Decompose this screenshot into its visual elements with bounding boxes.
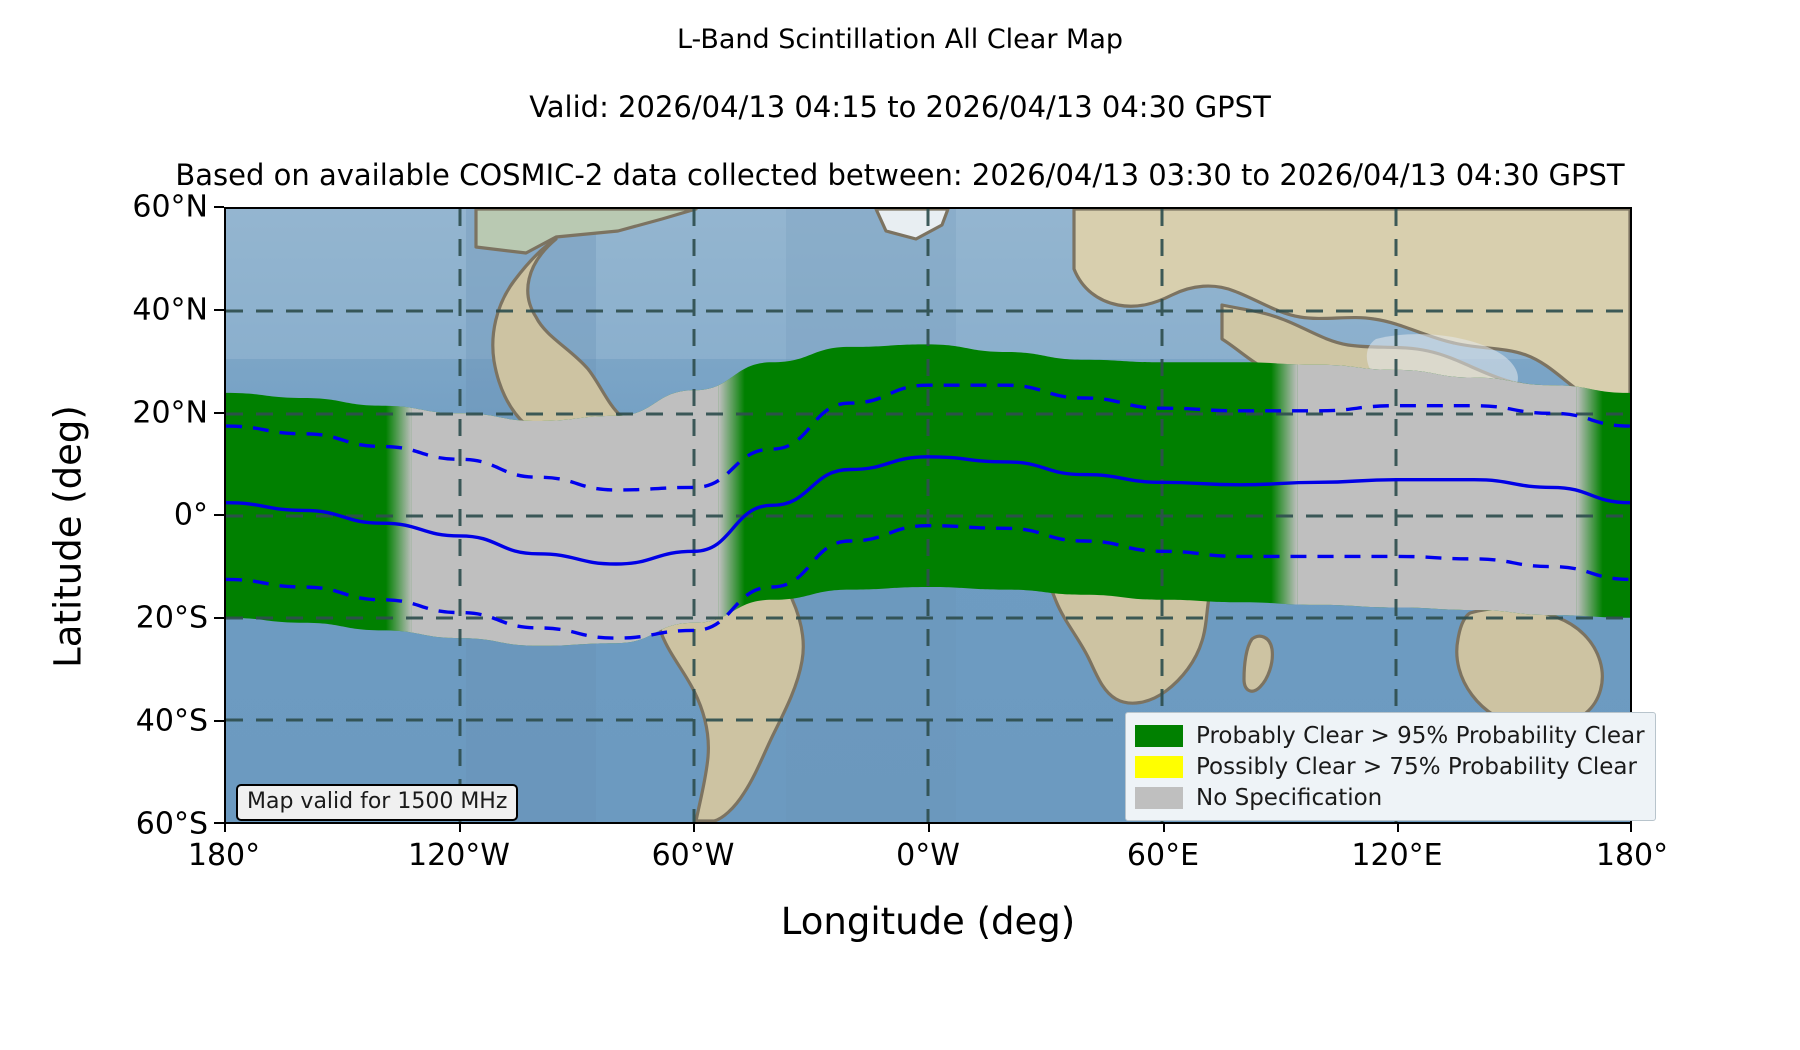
- ytick-label-60s: 60°S: [136, 807, 208, 842]
- legend-swatch-yellow: [1135, 756, 1183, 778]
- y-axis-title: Latitude (deg): [47, 227, 90, 847]
- xtick-label-120e: 120°E: [1351, 838, 1442, 873]
- ytick-label-40s: 40°S: [136, 704, 208, 739]
- ytick-mark: [214, 309, 224, 311]
- ytick-label-60n: 60°N: [132, 190, 208, 225]
- ytick-mark: [214, 822, 224, 824]
- ytick-mark: [214, 617, 224, 619]
- legend-item-no-specification: No Specification: [1135, 782, 1645, 813]
- legend-item-probably-clear: Probably Clear > 95% Probability Clear: [1135, 720, 1645, 751]
- scintillation-map-figure: L-Band Scintillation All Clear Map Valid…: [0, 0, 1800, 1050]
- legend-item-possibly-clear: Possibly Clear > 75% Probability Clear: [1135, 751, 1645, 782]
- xtick-label-180e: 180°: [1596, 838, 1668, 873]
- page-title: L-Band Scintillation All Clear Map: [0, 24, 1800, 55]
- ytick-label-20n: 20°N: [132, 396, 208, 431]
- xtick-label-180w: 180°: [188, 838, 260, 873]
- legend-swatch-gray: [1135, 787, 1183, 809]
- legend-label-probably-clear: Probably Clear > 95% Probability Clear: [1196, 723, 1645, 749]
- ytick-mark: [214, 206, 224, 208]
- valid-time-subtitle: Valid: 2026/04/13 04:15 to 2026/04/13 04…: [0, 90, 1800, 124]
- ytick-label-40n: 40°N: [132, 293, 208, 328]
- ytick-label-0: 0°: [174, 498, 208, 533]
- ytick-mark: [214, 514, 224, 516]
- legend-label-no-specification: No Specification: [1196, 785, 1382, 811]
- ytick-mark: [214, 412, 224, 414]
- legend-swatch-green: [1135, 725, 1183, 747]
- xtick-label-0: 0°W: [896, 838, 960, 873]
- legend-label-possibly-clear: Possibly Clear > 75% Probability Clear: [1196, 754, 1637, 780]
- frequency-annotation: Map valid for 1500 MHz: [236, 784, 518, 821]
- xtick-label-120w: 120°W: [408, 838, 510, 873]
- ytick-label-20s: 20°S: [136, 601, 208, 636]
- ytick-mark: [214, 720, 224, 722]
- xtick-label-60e: 60°E: [1127, 838, 1199, 873]
- legend: Probably Clear > 95% Probability Clear P…: [1125, 712, 1656, 821]
- xtick-label-60w: 60°W: [652, 838, 735, 873]
- data-source-caption: Based on available COSMIC-2 data collect…: [0, 158, 1800, 192]
- x-axis-title: Longitude (deg): [224, 900, 1632, 943]
